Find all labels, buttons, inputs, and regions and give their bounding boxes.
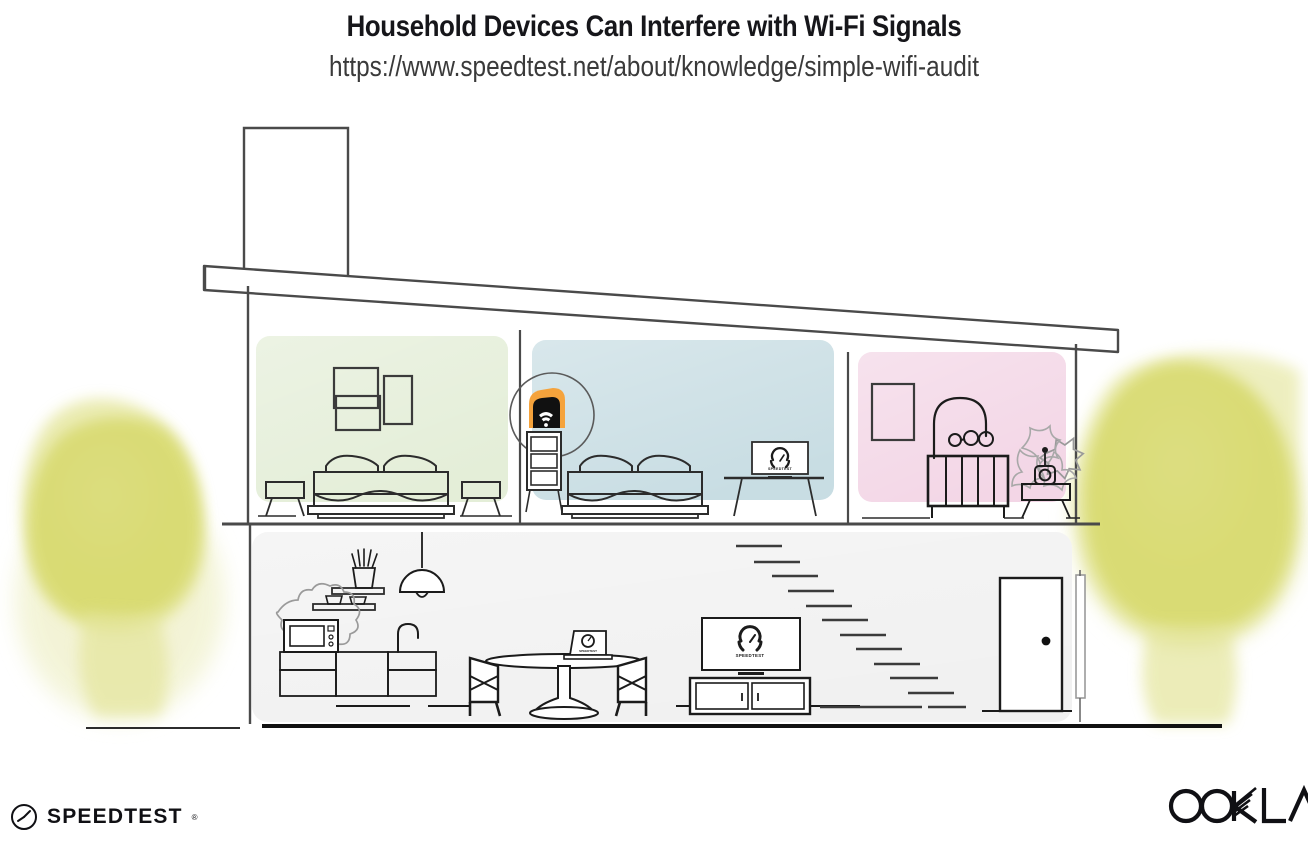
ookla-logo-icon [1164,782,1308,828]
trademark-symbol: ® [192,813,198,822]
monitor-speedtest[interactable]: SPEEDTEST [752,442,808,479]
room-bedroom-green [256,336,512,518]
footer: SPEEDTEST ® [0,781,1308,861]
screen-label: SPEEDTEST [768,467,793,471]
room-bedroom-blue: SPEEDTEST [510,340,834,518]
room-nursery-pink [858,352,1083,518]
microwave-icon[interactable] [284,620,338,652]
door-knob [1042,637,1051,646]
screen-label: SPEEDTEST [736,653,765,658]
chimney [244,128,348,280]
ground-floor: SPEEDTEST [86,524,1222,728]
ookla-brand [1164,782,1308,833]
speedtest-gauge-icon [10,803,38,831]
house-cutaway-illustration: SPEEDTEST [0,0,1308,790]
tv-speedtest[interactable]: SPEEDTEST [702,618,800,675]
tree-foliage-left [15,399,225,720]
wifi-router-icon[interactable] [529,388,565,428]
speedtest-wordmark: SPEEDTEST [47,805,183,829]
infographic-root: Household Devices Can Interfere with Wi-… [0,0,1308,861]
speedtest-brand: SPEEDTEST ® [10,803,198,831]
tree-foliage-right [1072,353,1308,724]
sidelight-window [1076,570,1085,722]
screen-label: SPEEDTEST [579,649,597,653]
front-door[interactable] [1000,578,1062,711]
media-console [690,678,810,714]
